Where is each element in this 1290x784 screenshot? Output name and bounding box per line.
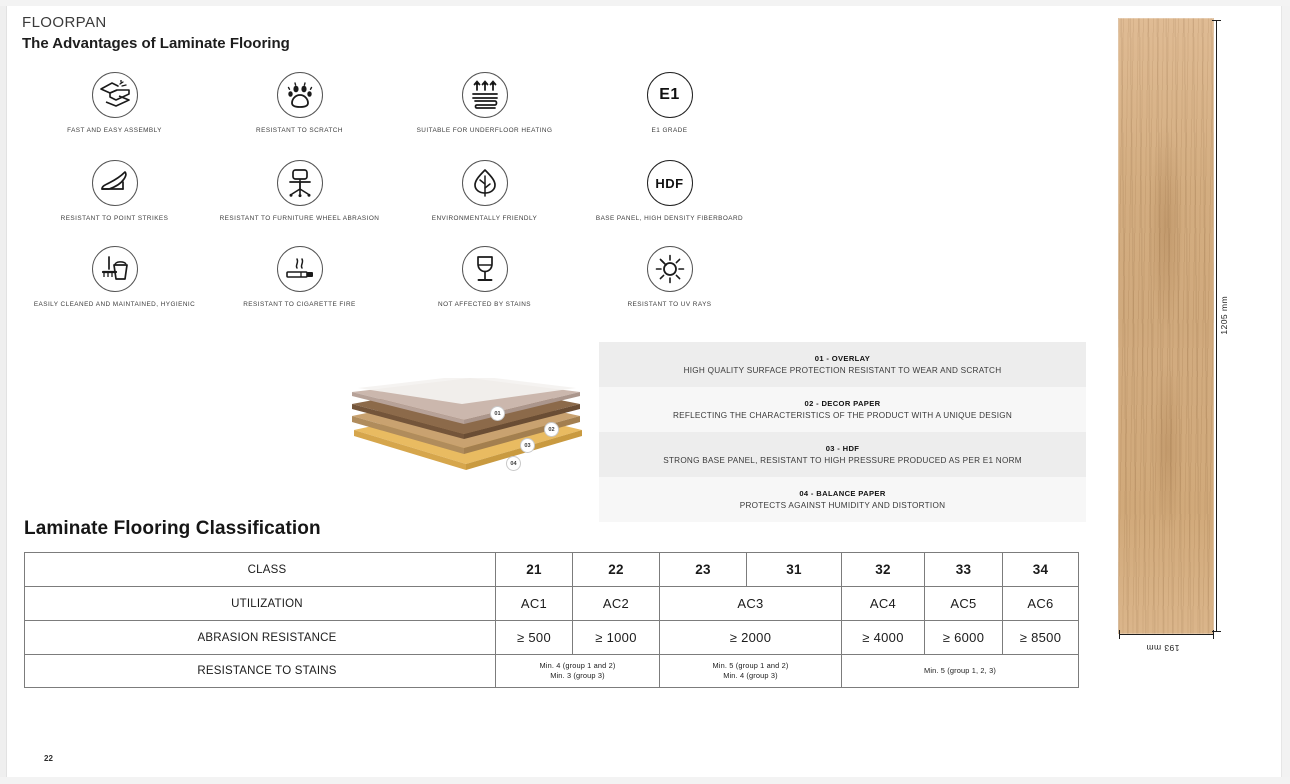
hdf-badge-text: HDF <box>655 176 683 191</box>
layer-description: PROTECTS AGAINST HUMIDITY AND DISTORTION <box>740 501 945 510</box>
layer-title: 03 - HDF <box>826 444 860 453</box>
office-chair-icon <box>277 160 323 206</box>
utilization-cell-ac3: AC3 <box>660 587 842 621</box>
feature-resistant-to-scratch: RESISTANT TO SCRATCH <box>207 72 392 160</box>
underfloor-heating-icon <box>462 72 508 118</box>
page-edge-right <box>1281 0 1290 784</box>
cigarette-icon <box>277 246 323 292</box>
document-page: FLOORPAN The Advantages of Laminate Floo… <box>0 0 1290 784</box>
stains-cell-group-a: Min. 4 (group 1 and 2) Min. 3 (group 3) <box>496 655 660 688</box>
page-header: FLOORPAN The Advantages of Laminate Floo… <box>22 14 290 54</box>
feature-resistant-to-uv-rays: RESISTANT TO UV RAYS <box>577 246 762 336</box>
class-cell-21: 21 <box>496 553 573 587</box>
stains-cell-group-c: Min. 5 (group 1, 2, 3) <box>842 655 1079 688</box>
feature-label: FAST AND EASY ASSEMBLY <box>67 127 162 136</box>
feature-resistant-to-furniture-wheel-abrasion: RESISTANT TO FURNITURE WHEEL ABRASION <box>207 160 392 246</box>
stains-line-2: Min. 4 (group 3) <box>660 671 841 681</box>
page-title: The Advantages of Laminate Flooring <box>22 34 290 54</box>
classification-heading: Laminate Flooring Classification <box>24 518 321 540</box>
abrasion-cell-8500: ≥ 8500 <box>1003 621 1079 655</box>
layer-description-list: 01 - OVERLAY HIGH QUALITY SURFACE PROTEC… <box>599 342 1086 522</box>
board-callout: 02 <box>544 422 559 437</box>
click-assembly-icon <box>92 72 138 118</box>
feature-label: ENVIRONMENTALLY FRIENDLY <box>432 215 538 224</box>
abrasion-cell-4000: ≥ 4000 <box>842 621 925 655</box>
feature-resistant-to-cigarette-fire: RESISTANT TO CIGARETTE FIRE <box>207 246 392 336</box>
feature-row: EASILY CLEANED AND MAINTAINED, HYGIENIC … <box>22 246 762 336</box>
feature-label: RESISTANT TO POINT STRIKES <box>61 215 169 224</box>
feature-not-affected-by-stains: NOT AFFECTED BY STAINS <box>392 246 577 336</box>
layer-item-decor-paper: 02 - DECOR PAPER REFLECTING THE CHARACTE… <box>599 387 1086 432</box>
feature-grid: FAST AND EASY ASSEMBLY RESISTANT TO SCRA… <box>22 72 762 336</box>
stains-line-1: Min. 4 (group 1 and 2) <box>496 661 659 671</box>
board-callout: 03 <box>520 438 535 453</box>
stains-line-1: Min. 5 (group 1 and 2) <box>660 661 841 671</box>
feature-label: RESISTANT TO FURNITURE WHEEL ABRASION <box>220 215 380 224</box>
feature-label: E1 GRADE <box>652 127 688 136</box>
feature-label: RESISTANT TO SCRATCH <box>256 127 343 136</box>
feature-e1-grade: E1 E1 GRADE <box>577 72 762 160</box>
class-cell-23: 23 <box>660 553 747 587</box>
e1-grade-icon: E1 <box>647 72 693 118</box>
layer-title: 04 - BALANCE PAPER <box>799 489 885 498</box>
layer-item-hdf: 03 - HDF STRONG BASE PANEL, RESISTANT TO… <box>599 432 1086 477</box>
plank-width-label: 193 mm <box>1146 643 1179 653</box>
page-edge-left <box>0 0 7 784</box>
stains-line-2: Min. 3 (group 3) <box>496 671 659 681</box>
laminate-layer-illustration: 01 02 03 04 <box>344 378 592 470</box>
layer-description: HIGH QUALITY SURFACE PROTECTION RESISTAN… <box>684 366 1002 375</box>
abrasion-cell-6000: ≥ 6000 <box>925 621 1003 655</box>
classification-table: CLASS 21 22 23 31 32 33 34 UTILIZATION A… <box>24 552 1079 688</box>
feature-label: SUITABLE FOR UNDERFLOOR HEATING <box>417 127 553 136</box>
e1-badge-text: E1 <box>659 86 680 104</box>
plank-height-label: 1205 mm <box>1219 296 1229 335</box>
feature-label: BASE PANEL, HIGH DENSITY FIBERBOARD <box>596 215 743 224</box>
class-cell-33: 33 <box>925 553 1003 587</box>
leaf-icon <box>462 160 508 206</box>
abrasion-cell-2000: ≥ 2000 <box>660 621 842 655</box>
class-cell-34: 34 <box>1003 553 1079 587</box>
row-label-utilization: UTILIZATION <box>25 587 496 621</box>
utilization-cell-ac1: AC1 <box>496 587 573 621</box>
plank-height-dimension-line <box>1216 20 1217 632</box>
brand-name: FLOORPAN <box>22 14 290 32</box>
row-label-class: CLASS <box>25 553 496 587</box>
feature-label: NOT AFFECTED BY STAINS <box>438 301 531 310</box>
layer-item-overlay: 01 - OVERLAY HIGH QUALITY SURFACE PROTEC… <box>599 342 1086 387</box>
page-number: 22 <box>44 754 53 763</box>
class-cell-32: 32 <box>842 553 925 587</box>
page-edge-top <box>0 0 1290 6</box>
feature-row: FAST AND EASY ASSEMBLY RESISTANT TO SCRA… <box>22 72 762 160</box>
feature-suitable-for-underfloor-heating: SUITABLE FOR UNDERFLOOR HEATING <box>392 72 577 160</box>
paw-print-icon <box>277 72 323 118</box>
layer-title: 02 - DECOR PAPER <box>805 399 881 408</box>
utilization-cell-ac4: AC4 <box>842 587 925 621</box>
high-heel-icon <box>92 160 138 206</box>
row-label-abrasion: ABRASION RESISTANCE <box>25 621 496 655</box>
utilization-cell-ac2: AC2 <box>573 587 660 621</box>
wine-glass-icon <box>462 246 508 292</box>
wood-plank-image <box>1118 18 1214 634</box>
hdf-icon: HDF <box>647 160 693 206</box>
layer-title: 01 - OVERLAY <box>815 354 870 363</box>
feature-resistant-to-point-strikes: RESISTANT TO POINT STRIKES <box>22 160 207 246</box>
feature-label: RESISTANT TO CIGARETTE FIRE <box>243 301 356 310</box>
utilization-cell-ac6: AC6 <box>1003 587 1079 621</box>
row-label-stains: RESISTANCE TO STAINS <box>25 655 496 688</box>
feature-environmentally-friendly: ENVIRONMENTALLY FRIENDLY <box>392 160 577 246</box>
mop-bucket-icon <box>92 246 138 292</box>
classification-table-wrapper: CLASS 21 22 23 31 32 33 34 UTILIZATION A… <box>24 552 1058 688</box>
utilization-cell-ac5: AC5 <box>925 587 1003 621</box>
table-row-utilization: UTILIZATION AC1 AC2 AC3 AC4 AC5 AC6 <box>25 587 1079 621</box>
board-callout: 01 <box>490 406 505 421</box>
class-cell-31: 31 <box>747 553 842 587</box>
feature-easily-cleaned-hygienic: EASILY CLEANED AND MAINTAINED, HYGIENIC <box>22 246 207 336</box>
feature-fast-and-easy-assembly: FAST AND EASY ASSEMBLY <box>22 72 207 160</box>
feature-row: RESISTANT TO POINT STRIKES RESIST <box>22 160 762 246</box>
stains-line-1: Min. 5 (group 1, 2, 3) <box>842 666 1078 676</box>
table-row-class: CLASS 21 22 23 31 32 33 34 <box>25 553 1079 587</box>
layer-description: STRONG BASE PANEL, RESISTANT TO HIGH PRE… <box>663 456 1022 465</box>
stains-cell-group-b: Min. 5 (group 1 and 2) Min. 4 (group 3) <box>660 655 842 688</box>
class-cell-22: 22 <box>573 553 660 587</box>
layer-item-balance-paper: 04 - BALANCE PAPER PROTECTS AGAINST HUMI… <box>599 477 1086 522</box>
sun-icon <box>647 246 693 292</box>
feature-label: EASILY CLEANED AND MAINTAINED, HYGIENIC <box>34 301 195 310</box>
page-edge-bottom <box>0 777 1290 784</box>
table-row-abrasion: ABRASION RESISTANCE ≥ 500 ≥ 1000 ≥ 2000 … <box>25 621 1079 655</box>
abrasion-cell-500: ≥ 500 <box>496 621 573 655</box>
board-callout: 04 <box>506 456 521 471</box>
plank-width-dimension-line <box>1119 634 1214 635</box>
layer-description: REFLECTING THE CHARACTERISTICS OF THE PR… <box>673 411 1012 420</box>
feature-label: RESISTANT TO UV RAYS <box>627 301 711 310</box>
feature-base-panel-hdf: HDF BASE PANEL, HIGH DENSITY FIBERBOARD <box>577 160 762 246</box>
abrasion-cell-1000: ≥ 1000 <box>573 621 660 655</box>
table-row-stains: RESISTANCE TO STAINS Min. 4 (group 1 and… <box>25 655 1079 688</box>
